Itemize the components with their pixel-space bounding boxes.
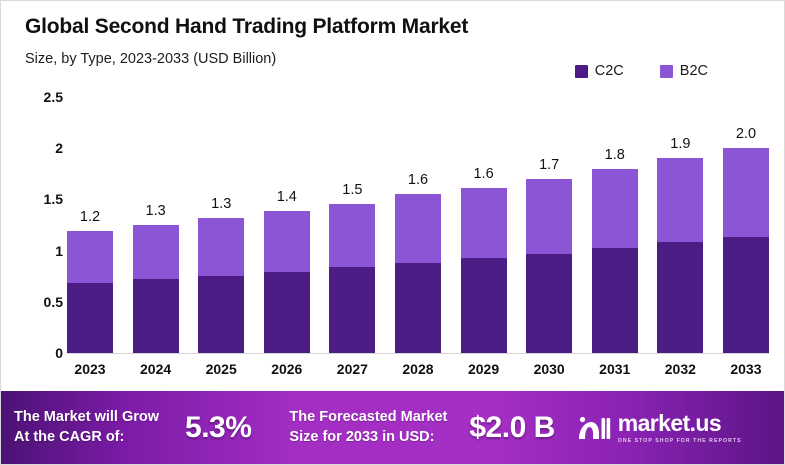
bar-value-label: 1.5 xyxy=(342,182,362,198)
x-axis-tick: 2032 xyxy=(657,361,703,377)
bar-stack xyxy=(526,179,572,353)
logo-text: market.us ONE STOP SHOP FOR THE REPORTS xyxy=(618,412,742,444)
bar-column[interactable]: 1.3 xyxy=(133,97,179,353)
bar-segment-b2c[interactable] xyxy=(461,188,507,258)
bar-segment-c2c[interactable] xyxy=(395,263,441,353)
x-axis-tick: 2033 xyxy=(723,361,769,377)
y-axis: 00.511.522.5 xyxy=(19,87,63,361)
forecast-value: $2.0 B xyxy=(469,411,554,445)
forecast-caption-line1: The Forecasted Market xyxy=(289,408,447,428)
bar-segment-b2c[interactable] xyxy=(133,225,179,279)
market-us-logo[interactable]: market.us ONE STOP SHOP FOR THE REPORTS xyxy=(577,412,742,444)
x-axis-tick: 2030 xyxy=(526,361,572,377)
bar-segment-b2c[interactable] xyxy=(526,179,572,254)
cagr-block: The Market will Grow At the CAGR of: 5.3… xyxy=(14,408,251,447)
bar-segment-b2c[interactable] xyxy=(657,158,703,242)
y-axis-tick: 0 xyxy=(55,345,63,361)
bar-segment-c2c[interactable] xyxy=(592,248,638,353)
bar-value-label: 1.9 xyxy=(670,136,690,152)
forecast-block: The Forecasted Market Size for 2033 in U… xyxy=(289,408,554,447)
bar-column[interactable]: 1.9 xyxy=(657,97,703,353)
logo-tagline: ONE STOP SHOP FOR THE REPORTS xyxy=(618,438,742,444)
cagr-caption-line1: The Market will Grow xyxy=(14,408,159,428)
market-infographic: Global Second Hand Trading Platform Mark… xyxy=(0,0,785,465)
bar-segment-c2c[interactable] xyxy=(264,272,310,353)
bar-segment-c2c[interactable] xyxy=(657,242,703,353)
cagr-value: 5.3% xyxy=(185,411,251,445)
bar-column[interactable]: 1.8 xyxy=(592,97,638,353)
bar-segment-b2c[interactable] xyxy=(592,169,638,248)
bar-value-label: 1.3 xyxy=(211,196,231,212)
bar-column[interactable]: 1.3 xyxy=(198,97,244,353)
bar-segment-b2c[interactable] xyxy=(329,204,375,267)
bar-segment-c2c[interactable] xyxy=(67,283,113,353)
bar-value-label: 1.6 xyxy=(408,172,428,188)
cagr-caption: The Market will Grow At the CAGR of: xyxy=(14,408,159,447)
bar-value-label: 1.7 xyxy=(539,157,559,173)
forecast-caption-line2: Size for 2033 in USD: xyxy=(289,428,447,448)
bar-segment-c2c[interactable] xyxy=(329,267,375,353)
bar-value-label: 2.0 xyxy=(736,126,756,142)
bar-segment-c2c[interactable] xyxy=(723,237,769,353)
x-axis-tick: 2023 xyxy=(67,361,113,377)
bar-column[interactable]: 1.4 xyxy=(264,97,310,353)
bar-stack xyxy=(329,204,375,354)
bar-segment-c2c[interactable] xyxy=(461,258,507,353)
bar-value-label: 1.2 xyxy=(80,209,100,225)
cagr-caption-line2: At the CAGR of: xyxy=(14,428,159,448)
x-axis-tick: 2028 xyxy=(395,361,441,377)
bar-segment-b2c[interactable] xyxy=(395,194,441,263)
bar-segment-b2c[interactable] xyxy=(264,211,310,272)
y-axis-tick: 1.5 xyxy=(44,191,63,207)
bar-column[interactable]: 1.6 xyxy=(395,97,441,353)
bar-stack xyxy=(264,211,310,353)
x-axis-tick: 2027 xyxy=(329,361,375,377)
forecast-caption: The Forecasted Market Size for 2033 in U… xyxy=(289,408,447,447)
market-us-logo-icon xyxy=(577,415,611,441)
bar-stack xyxy=(198,218,244,353)
bar-value-label: 1.3 xyxy=(146,203,166,219)
y-axis-tick: 2 xyxy=(55,140,63,156)
bar-group: 1.21.31.31.41.51.61.61.71.81.92.0 xyxy=(67,97,769,353)
x-axis-tick: 2026 xyxy=(264,361,310,377)
bar-value-label: 1.4 xyxy=(277,189,297,205)
x-axis-tick: 2024 xyxy=(133,361,179,377)
bar-segment-c2c[interactable] xyxy=(198,276,244,353)
bar-stack xyxy=(395,194,441,353)
logo-wordmark: market.us xyxy=(618,412,742,435)
summary-banner: The Market will Grow At the CAGR of: 5.3… xyxy=(1,391,785,464)
x-axis: 2023202420252026202720282029203020312032… xyxy=(67,361,769,377)
bar-stack xyxy=(592,169,638,353)
bar-segment-c2c[interactable] xyxy=(526,254,572,353)
x-axis-tick: 2025 xyxy=(198,361,244,377)
x-axis-tick: 2029 xyxy=(461,361,507,377)
bar-column[interactable]: 2.0 xyxy=(723,97,769,353)
y-axis-tick: 0.5 xyxy=(44,294,63,310)
bar-segment-b2c[interactable] xyxy=(198,218,244,276)
bar-value-label: 1.6 xyxy=(473,166,493,182)
y-axis-tick: 2.5 xyxy=(44,89,63,105)
bar-stack xyxy=(461,188,507,353)
bar-stack xyxy=(133,225,179,353)
bar-stack xyxy=(67,231,113,353)
bar-column[interactable]: 1.2 xyxy=(67,97,113,353)
bar-segment-c2c[interactable] xyxy=(133,279,179,353)
bar-stack xyxy=(723,148,769,353)
x-axis-baseline xyxy=(67,353,769,354)
bar-segment-b2c[interactable] xyxy=(723,148,769,237)
bar-column[interactable]: 1.6 xyxy=(461,97,507,353)
bar-column[interactable]: 1.5 xyxy=(329,97,375,353)
y-axis-tick: 1 xyxy=(55,243,63,259)
plot-region: 00.511.522.5 1.21.31.31.41.51.61.61.71.8… xyxy=(1,1,785,393)
chart-area: Global Second Hand Trading Platform Mark… xyxy=(1,1,785,393)
bar-segment-b2c[interactable] xyxy=(67,231,113,283)
bar-value-label: 1.8 xyxy=(605,147,625,163)
bar-column[interactable]: 1.7 xyxy=(526,97,572,353)
bar-stack xyxy=(657,158,703,353)
x-axis-tick: 2031 xyxy=(592,361,638,377)
